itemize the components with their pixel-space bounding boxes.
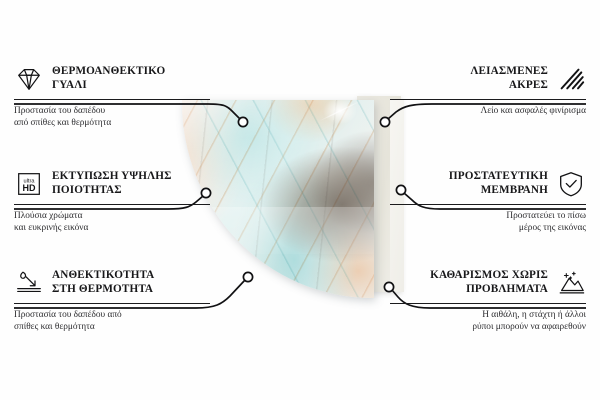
feature-easy-cleaning: ΚΑΘΑΡΙΣΜΟΣ ΧΩΡΙΣ ΠΡΟΒΛΗΜΑΤΑ Η αιθάλη, η …	[390, 266, 586, 333]
feature-header: ΠΡΟΣΤΑΤΕΥΤΙΚΗ ΜΕΜΒΡΑΝΗ	[390, 167, 586, 201]
diamond-icon	[14, 64, 44, 94]
polished-edges-icon	[556, 64, 586, 94]
easy-clean-sparkle-icon	[556, 268, 586, 298]
feature-heat-resistant-glass: ΘΕΡΜΟΑΝΘΕΚΤΙΚΟ ΓΥΑΛΙ Προστασία του δαπέδ…	[14, 62, 210, 129]
feature-title: ΑΝΘΕΚΤΙΚΟΤΗΤΑ ΣΤΗ ΘΕΡΜΟΤΗΤΑ	[52, 269, 154, 296]
feature-description: Προστασία του δαπέδου από σπίθες και θερ…	[14, 309, 210, 333]
feature-title: ΛΕΙΑΣΜΕΝΕΣ ΑΚΡΕΣ	[470, 65, 548, 92]
feature-title: ΠΡΟΣΤΑΤΕΥΤΙΚΗ ΜΕΜΒΡΑΝΗ	[449, 170, 548, 197]
infographic-canvas: ΘΕΡΜΟΑΝΘΕΚΤΙΚΟ ΓΥΑΛΙ Προστασία του δαπέδ…	[0, 0, 600, 400]
feature-title: ΘΕΡΜΟΑΝΘΕΚΤΙΚΟ ΓΥΑΛΙ	[52, 65, 165, 92]
heat-resistance-icon	[14, 268, 44, 298]
feature-description: Πλούσια χρώματα και ευκρινής εικόνα	[14, 210, 210, 234]
feature-header: ΘΕΡΜΟΑΝΘΕΚΤΙΚΟ ΓΥΑΛΙ	[14, 62, 210, 96]
divider	[14, 303, 210, 304]
feature-description: Προστατεύει το πίσω μέρος της εικόνας	[390, 210, 586, 234]
divider	[14, 99, 210, 100]
feature-header: ΚΑΘΑΡΙΣΜΟΣ ΧΩΡΙΣ ΠΡΟΒΛΗΜΑΤΑ	[390, 266, 586, 300]
feature-heat-resistance: ΑΝΘΕΚΤΙΚΟΤΗΤΑ ΣΤΗ ΘΕΡΜΟΤΗΤΑ Προστασία το…	[14, 266, 210, 333]
feature-title: ΚΑΘΑΡΙΣΜΟΣ ΧΩΡΙΣ ΠΡΟΒΛΗΜΑΤΑ	[430, 269, 548, 296]
divider	[390, 204, 586, 205]
glass-glare-icon	[316, 100, 364, 130]
divider	[390, 99, 586, 100]
feature-description: Προστασία του δαπέδου από σπίθες και θερ…	[14, 105, 210, 129]
ultra-hd-icon: ultra HD	[14, 169, 44, 199]
divider	[14, 204, 210, 205]
feature-header: ultra HD ΕΚΤΥΠΩΣΗ ΥΨΗΛΗΣ ΠΟΙΟΤΗΤΑΣ	[14, 167, 210, 201]
shield-check-icon	[556, 169, 586, 199]
feature-header: ΑΝΘΕΚΤΙΚΟΤΗΤΑ ΣΤΗ ΘΕΡΜΟΤΗΤΑ	[14, 266, 210, 300]
glass-splashback	[182, 100, 374, 298]
product-illustration	[182, 96, 398, 308]
divider	[390, 303, 586, 304]
feature-polished-edges: ΛΕΙΑΣΜΕΝΕΣ ΑΚΡΕΣ Λείο και ασφαλές φινίρι…	[390, 62, 586, 117]
feature-high-quality-print: ultra HD ΕΚΤΥΠΩΣΗ ΥΨΗΛΗΣ ΠΟΙΟΤΗΤΑΣ Πλούσ…	[14, 167, 210, 234]
svg-text:HD: HD	[23, 183, 36, 193]
feature-description: Λείο και ασφαλές φινίρισμα	[390, 105, 586, 117]
feature-protective-membrane: ΠΡΟΣΤΑΤΕΥΤΙΚΗ ΜΕΜΒΡΑΝΗ Προστατεύει το πί…	[390, 167, 586, 234]
feature-header: ΛΕΙΑΣΜΕΝΕΣ ΑΚΡΕΣ	[390, 62, 586, 96]
feature-title: ΕΚΤΥΠΩΣΗ ΥΨΗΛΗΣ ΠΟΙΟΤΗΤΑΣ	[52, 170, 172, 197]
feature-description: Η αιθάλη, η στάχτη ή άλλοι ρύποι μπορούν…	[390, 309, 586, 333]
